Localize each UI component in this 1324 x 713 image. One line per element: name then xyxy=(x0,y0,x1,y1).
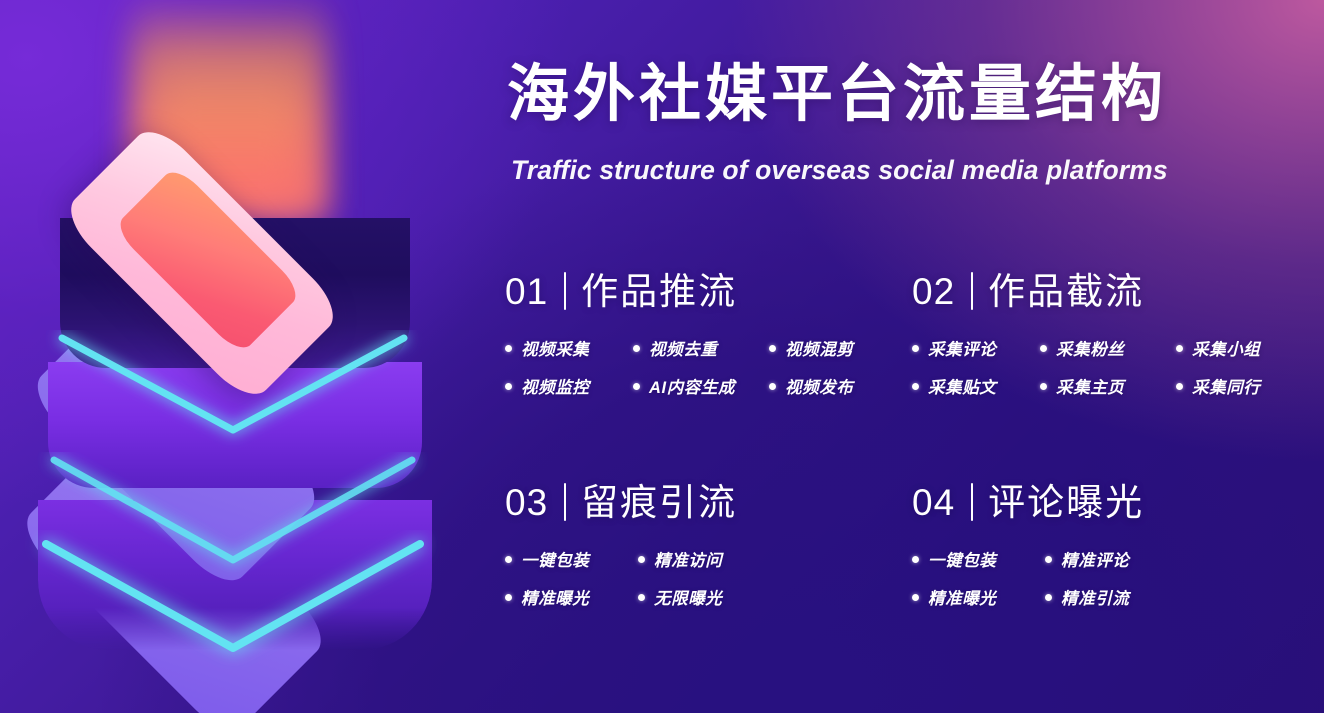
section-title: 作品截流 xyxy=(988,273,1144,310)
section-title: 留痕引流 xyxy=(581,484,737,521)
list-item-label: 一键包装 xyxy=(928,547,996,571)
bullet-dot-icon xyxy=(769,345,776,352)
list-item[interactable]: 采集同行 xyxy=(1176,374,1310,398)
section-01: 01作品推流视频采集视频去重视频混剪视频监控AI内容生成视频发布 xyxy=(505,272,903,398)
list-item-label: 采集同行 xyxy=(1192,374,1260,398)
list-item-label: 精准引流 xyxy=(1061,585,1129,609)
sections-grid: 01作品推流视频采集视频去重视频混剪视频监控AI内容生成视频发布02作品截流采集… xyxy=(505,272,1310,609)
bullet-dot-icon xyxy=(1045,556,1052,563)
bullet-dot-icon xyxy=(1176,383,1183,390)
bullet-dot-icon xyxy=(912,383,919,390)
isometric-stack-illustration xyxy=(0,0,470,713)
list-item-label: 采集粉丝 xyxy=(1056,336,1124,360)
list-item[interactable]: 一键包装 xyxy=(912,547,1045,571)
top-layer-body xyxy=(60,218,410,368)
bullet-dot-icon xyxy=(505,383,512,390)
neon-edge-middle-layer-icon xyxy=(18,452,448,592)
list-item-label: 视频发布 xyxy=(785,374,853,398)
list-item[interactable]: 采集小组 xyxy=(1176,336,1310,360)
bullet-dot-icon xyxy=(633,345,640,352)
list-item[interactable]: 精准引流 xyxy=(1045,585,1310,609)
list-item[interactable]: 视频去重 xyxy=(633,336,769,360)
section-item-list: 采集评论采集粉丝采集小组采集贴文采集主页采集同行 xyxy=(912,336,1310,398)
list-item[interactable]: AI内容生成 xyxy=(633,374,769,398)
section-item-list: 一键包装精准评论精准曝光精准引流 xyxy=(912,547,1310,609)
section-03: 03留痕引流一键包装精准访问精准曝光无限曝光 xyxy=(505,483,903,609)
section-title: 评论曝光 xyxy=(988,484,1144,521)
list-item-label: 采集主页 xyxy=(1056,374,1124,398)
list-item-label: 采集贴文 xyxy=(928,374,996,398)
section-divider xyxy=(564,483,566,521)
list-item[interactable]: 采集贴文 xyxy=(912,374,1040,398)
section-number: 01 xyxy=(505,273,548,310)
bullet-dot-icon xyxy=(505,556,512,563)
list-item[interactable]: 采集粉丝 xyxy=(1040,336,1176,360)
list-item-label: 采集评论 xyxy=(928,336,996,360)
bullet-dot-icon xyxy=(505,594,512,601)
page-title: 海外社媒平台流量结构 xyxy=(507,64,1167,126)
orange-light-beam-core-icon xyxy=(150,18,310,208)
bullet-dot-icon xyxy=(912,345,919,352)
bullet-dot-icon xyxy=(638,556,645,563)
list-item[interactable]: 无限曝光 xyxy=(638,585,903,609)
list-item-label: 视频去重 xyxy=(649,336,717,360)
list-item-label: 一键包装 xyxy=(521,547,589,571)
bullet-dot-icon xyxy=(912,556,919,563)
list-item-label: 视频采集 xyxy=(521,336,589,360)
list-item-label: 无限曝光 xyxy=(654,585,722,609)
list-item-label: 精准评论 xyxy=(1061,547,1129,571)
section-04: 04评论曝光一键包装精准评论精准曝光精准引流 xyxy=(912,483,1310,609)
bullet-dot-icon xyxy=(1040,383,1047,390)
list-item-label: 精准曝光 xyxy=(928,585,996,609)
neon-edge-base-layer-icon xyxy=(8,530,458,680)
list-item[interactable]: 视频发布 xyxy=(769,374,903,398)
orange-light-beam-icon xyxy=(131,0,327,220)
list-item-label: AI内容生成 xyxy=(649,374,735,398)
top-layer-pink-face xyxy=(59,120,345,406)
section-divider xyxy=(564,272,566,310)
list-item[interactable]: 采集评论 xyxy=(912,336,1040,360)
list-item[interactable]: 精准访问 xyxy=(638,547,903,571)
section-header: 03留痕引流 xyxy=(505,483,903,521)
bullet-dot-icon xyxy=(912,594,919,601)
list-item[interactable]: 精准曝光 xyxy=(912,585,1045,609)
list-item-label: 视频混剪 xyxy=(785,336,853,360)
section-number: 03 xyxy=(505,484,548,521)
section-02: 02作品截流采集评论采集粉丝采集小组采集贴文采集主页采集同行 xyxy=(912,272,1310,398)
content-column: 海外社媒平台流量结构 Traffic structure of overseas… xyxy=(505,0,1310,713)
middle-layer-body xyxy=(48,362,422,488)
section-item-list: 一键包装精准访问精准曝光无限曝光 xyxy=(505,547,903,609)
bullet-dot-icon xyxy=(1045,594,1052,601)
list-item[interactable]: 视频混剪 xyxy=(769,336,903,360)
top-layer-coral-core xyxy=(113,165,304,356)
page-subtitle: Traffic structure of overseas social med… xyxy=(511,155,1168,186)
base-layer-top-face xyxy=(15,423,333,713)
section-divider xyxy=(971,272,973,310)
section-header: 02作品截流 xyxy=(912,272,1310,310)
middle-layer-top-face xyxy=(25,291,326,592)
list-item-label: 采集小组 xyxy=(1192,336,1260,360)
list-item-label: 视频监控 xyxy=(521,374,589,398)
bullet-dot-icon xyxy=(638,594,645,601)
list-item[interactable]: 视频监控 xyxy=(505,374,633,398)
section-number: 04 xyxy=(912,484,955,521)
list-item[interactable]: 精准评论 xyxy=(1045,547,1310,571)
section-header: 04评论曝光 xyxy=(912,483,1310,521)
section-item-list: 视频采集视频去重视频混剪视频监控AI内容生成视频发布 xyxy=(505,336,903,398)
bullet-dot-icon xyxy=(769,383,776,390)
list-item[interactable]: 一键包装 xyxy=(505,547,638,571)
base-layer-body xyxy=(38,500,432,650)
list-item[interactable]: 视频采集 xyxy=(505,336,633,360)
bullet-dot-icon xyxy=(505,345,512,352)
list-item[interactable]: 精准曝光 xyxy=(505,585,638,609)
section-divider xyxy=(971,483,973,521)
bullet-dot-icon xyxy=(633,383,640,390)
bullet-dot-icon xyxy=(1176,345,1183,352)
slide-canvas: 海外社媒平台流量结构 Traffic structure of overseas… xyxy=(0,0,1324,713)
list-item[interactable]: 采集主页 xyxy=(1040,374,1176,398)
section-header: 01作品推流 xyxy=(505,272,903,310)
section-number: 02 xyxy=(912,273,955,310)
neon-edge-top-layer-icon xyxy=(28,330,438,460)
list-item-label: 精准访问 xyxy=(654,547,722,571)
list-item-label: 精准曝光 xyxy=(521,585,589,609)
bullet-dot-icon xyxy=(1040,345,1047,352)
section-title: 作品推流 xyxy=(581,273,737,310)
